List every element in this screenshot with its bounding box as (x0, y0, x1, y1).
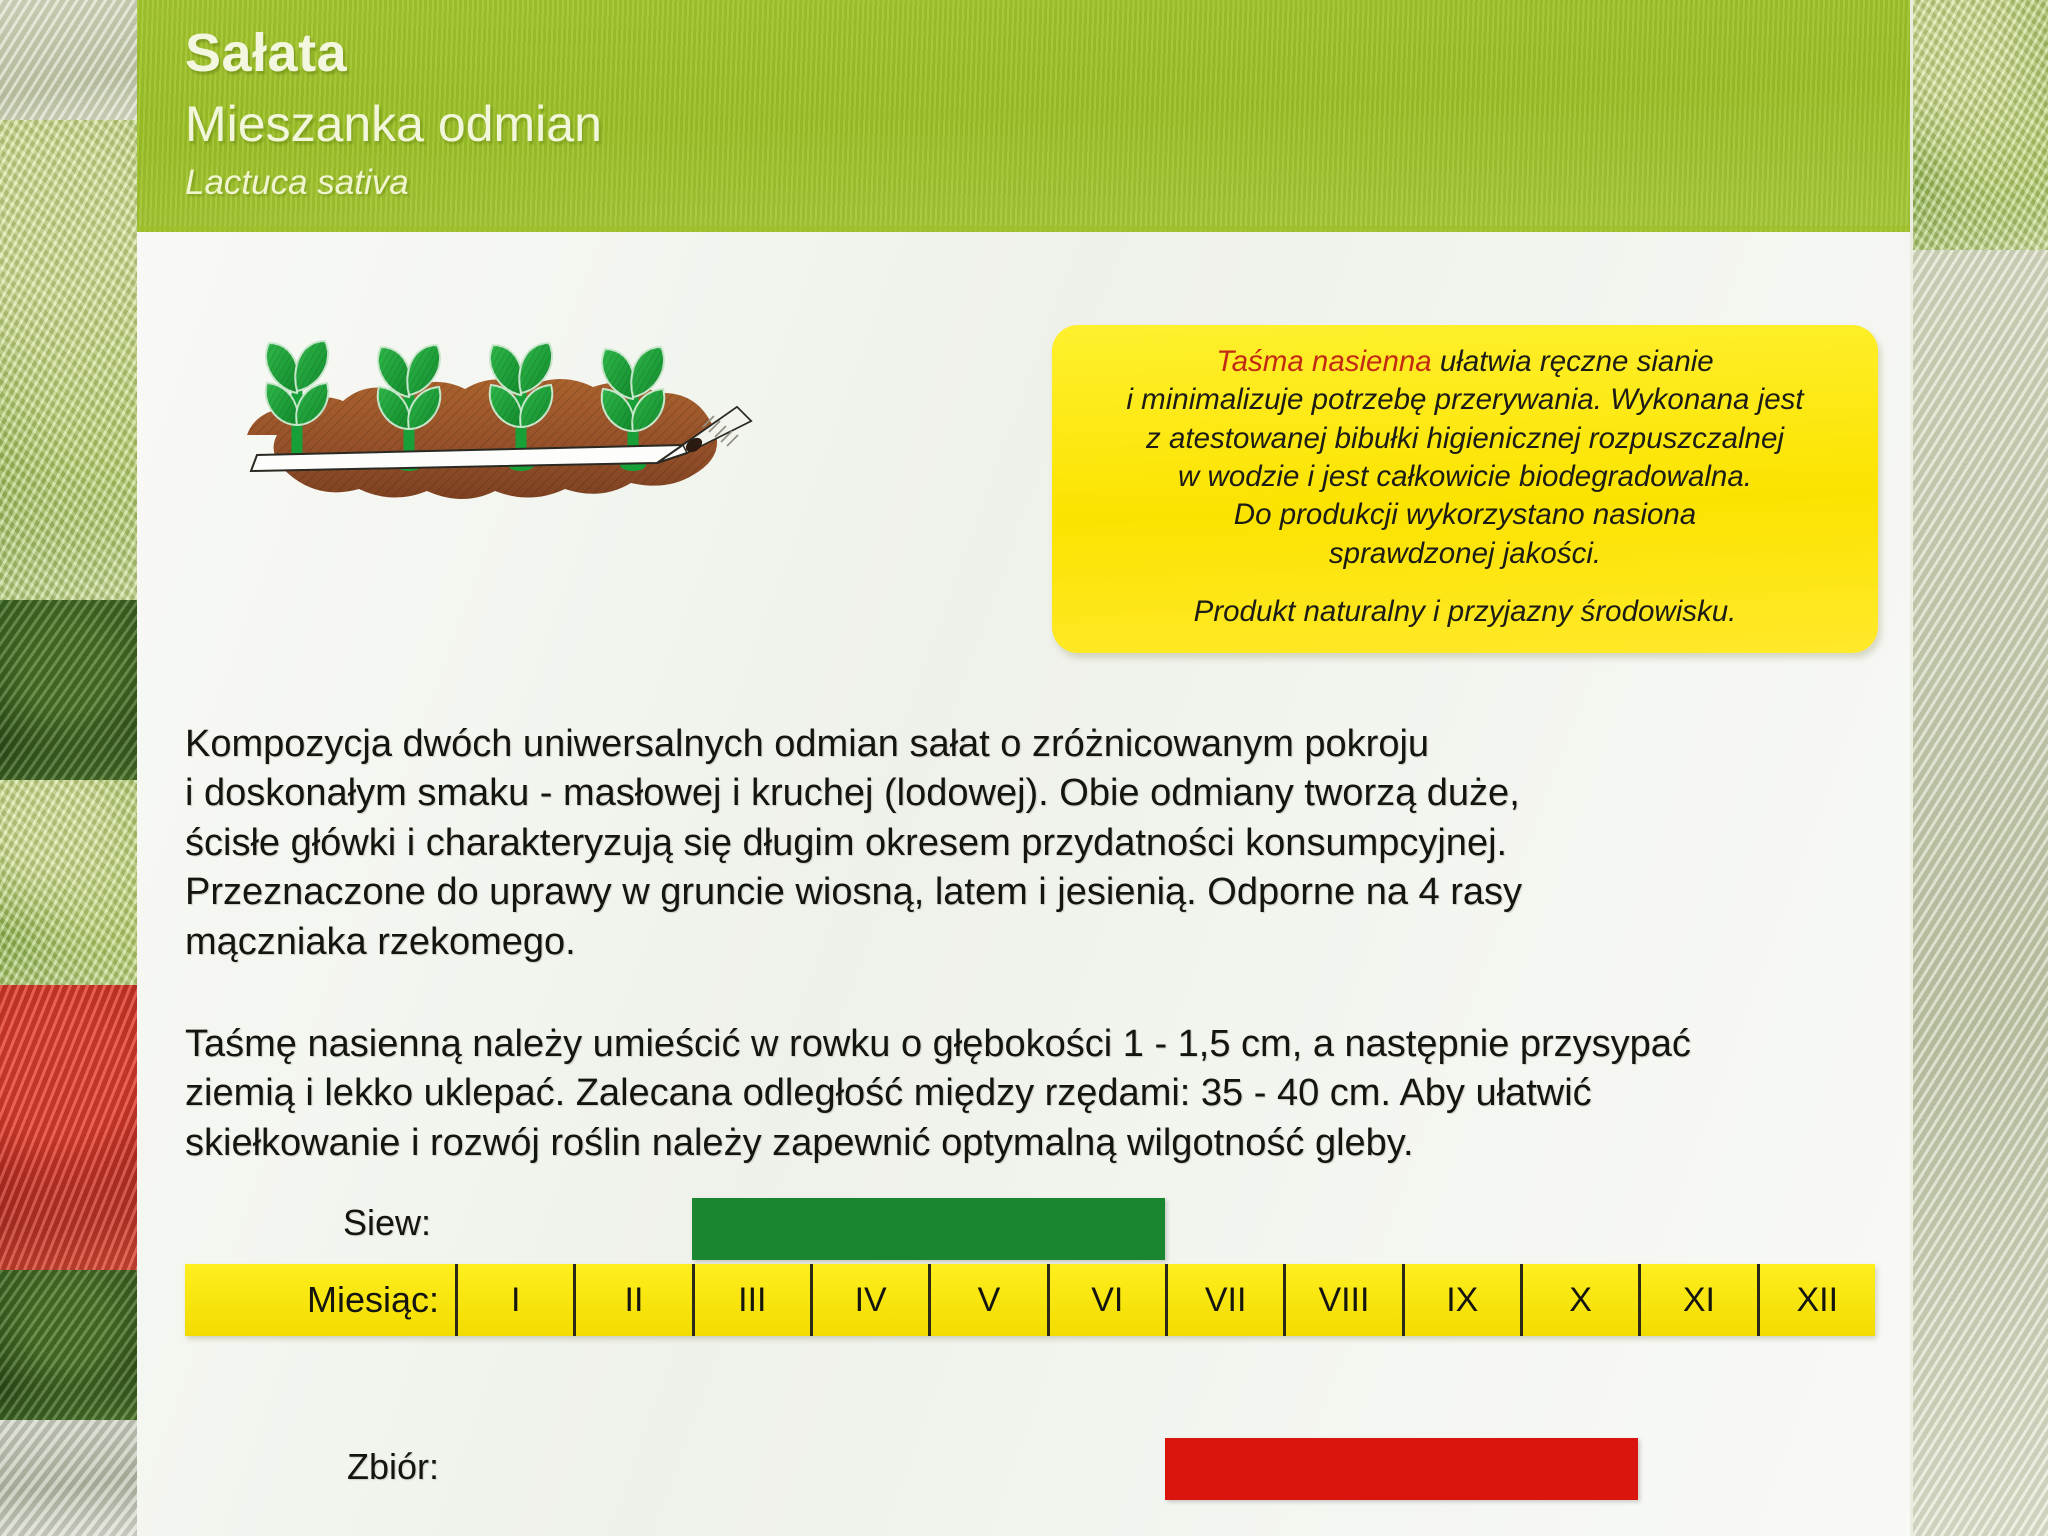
month-cell-8: VIII (1283, 1264, 1401, 1336)
description-paragraph: Kompozycja dwóch uniwersalnych odmian sa… (185, 720, 1880, 967)
month-row-label: Miesiąc: (185, 1264, 455, 1336)
info-line-6: sprawdzonej jakości. (1078, 535, 1852, 573)
instructions-line-3: skiełkowanie i rozwój roślin należy zape… (185, 1119, 1880, 1168)
description-line-2: i doskonałym smaku - masłowej i kruchej … (185, 769, 1880, 818)
description-line-3: ścisłe główki i charakteryzują się długi… (185, 819, 1880, 868)
info-footer: Produkt naturalny i przyjazny środowisku… (1078, 593, 1852, 631)
description-line-1: Kompozycja dwóch uniwersalnych odmian sa… (185, 720, 1880, 769)
seed-tape-illustration (217, 285, 837, 530)
month-cell-9: IX (1402, 1264, 1520, 1336)
month-row: Miesiąc: I II III IV V VI VII VIII IX X … (185, 1264, 1875, 1336)
info-line-4: w wodzie i jest całkowicie biodegradowal… (1078, 458, 1852, 496)
packaging-photo-right-edge (1913, 0, 2048, 1536)
instructions-line-1: Taśmę nasienną należy umieścić w rowku o… (185, 1020, 1880, 1069)
latin-name: Lactuca sativa (185, 163, 409, 203)
seedlings-on-tape-icon (217, 285, 837, 530)
instructions-paragraph: Taśmę nasienną należy umieścić w rowku o… (185, 1020, 1880, 1168)
month-cell-2: II (573, 1264, 691, 1336)
description-line-4: Przeznaczone do uprawy w gruncie wiosną,… (185, 868, 1880, 917)
packet-header: Sałata Mieszanka odmian Lactuca sativa (137, 0, 1910, 232)
instructions-line-2: ziemią i lekko uklepać. Zalecana odległo… (185, 1069, 1880, 1118)
page-title: Sałata (185, 22, 347, 84)
month-cell-11: XI (1638, 1264, 1756, 1336)
month-cell-5: V (928, 1264, 1046, 1336)
info-line-1-rest: ułatwia ręczne sianie (1432, 345, 1714, 378)
harvest-label: Zbiór: (347, 1446, 439, 1488)
info-line-3: z atestowanej bibułki higienicznej rozpu… (1078, 420, 1852, 458)
month-cell-4: IV (810, 1264, 928, 1336)
sowing-label: Siew: (343, 1202, 431, 1244)
description-line-5: mączniaka rzekomego. (185, 918, 1880, 967)
month-cell-3: III (692, 1264, 810, 1336)
month-cell-1: I (455, 1264, 573, 1336)
harvest-period-bar (1165, 1438, 1638, 1500)
month-cell-12: XII (1757, 1264, 1875, 1336)
cultivation-calendar: Siew: Zbiór: Miesiąc: I II III IV V VI V… (185, 1198, 1875, 1528)
info-line-1: Taśma nasienna ułatwia ręczne sianie (1078, 343, 1852, 381)
info-line-5: Do produkcji wykorzystano nasiona (1078, 496, 1852, 534)
month-cell-10: X (1520, 1264, 1638, 1336)
month-cell-7: VII (1165, 1264, 1283, 1336)
seed-packet-card: Sałata Mieszanka odmian Lactuca sativa (137, 0, 1910, 1536)
info-line-2: i minimalizuje potrzebę przerywania. Wyk… (1078, 381, 1852, 419)
info-highlight: Taśma nasienna (1216, 345, 1431, 378)
month-cell-6: VI (1047, 1264, 1165, 1336)
packet-subtitle: Mieszanka odmian (185, 95, 602, 153)
sowing-period-bar (692, 1198, 1165, 1260)
seed-tape-info-box: Taśma nasienna ułatwia ręczne sianie i m… (1052, 325, 1878, 653)
